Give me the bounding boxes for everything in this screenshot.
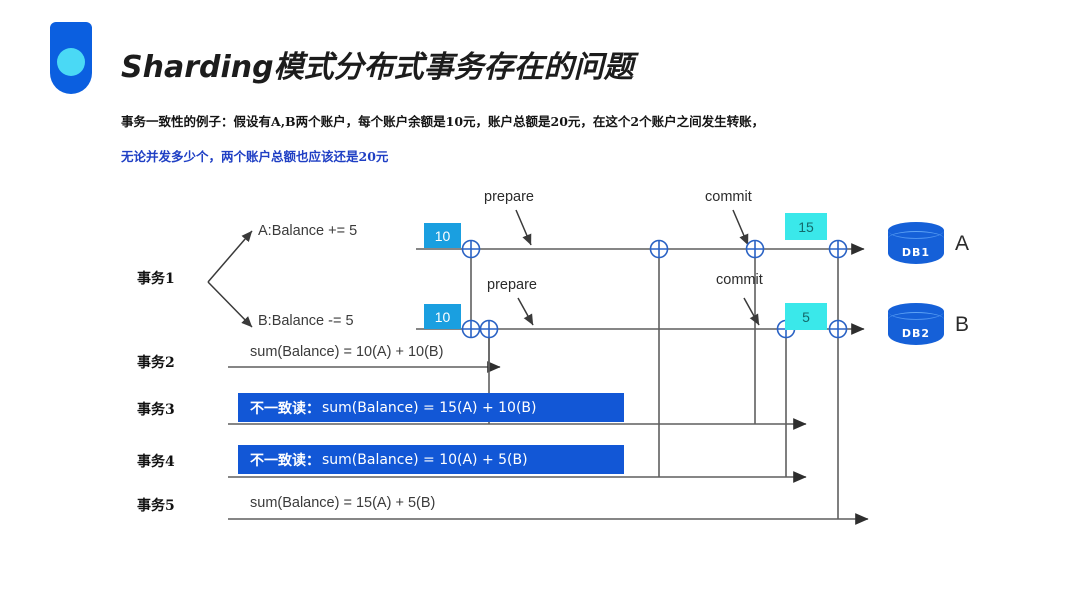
phase-label-commit-b: commit [716,272,763,288]
database-cylinder-icon-db1: DB1 [888,222,944,270]
balance-badge-a-after: 15 [785,213,827,240]
page-title: Sharding模式分布式事务存在的问题 [121,42,634,86]
db1-label: DB1 [888,246,944,259]
subtitle-line-2: 无论并发多少个，两个账户总额也应该还是20元 [121,146,388,165]
branch-operation-a: A:Balance += 5 [258,223,357,239]
inconsistent-read-bar-txn3: 不一致读： sum(Balance) = 15(A) + 10(B) [238,393,624,422]
brand-dot-icon [57,48,85,76]
balance-badge-a-before: 10 [424,223,461,248]
database-letter-a: A [955,232,969,256]
transaction-label-4: 事务4 [137,451,175,471]
inconsistent-read-prefix-txn4: 不一致读： [250,450,320,470]
db2-cap-line [888,312,944,327]
inconsistent-read-expression-txn4: sum(Balance) = 10(A) + 5(B) [322,452,528,468]
db2-label: DB2 [888,327,944,340]
database-letter-b: B [955,313,969,337]
read-expression-txn5: sum(Balance) = 15(A) + 5(B) [250,495,435,511]
transaction-label-1: 事务1 [137,268,175,288]
inconsistent-read-bar-txn4: 不一致读： sum(Balance) = 10(A) + 5(B) [238,445,624,474]
balance-badge-b-after: 5 [785,303,827,330]
balance-badge-b-before: 10 [424,304,461,329]
branch-operation-b: B:Balance -= 5 [258,313,354,329]
phase-label-commit-a: commit [705,189,752,205]
transaction-label-3: 事务3 [137,399,175,419]
subtitle-line-1: 事务一致性的例子：假设有A,B两个账户，每个账户余额是10元，账户总额是20元，… [121,111,764,130]
inconsistent-read-expression-txn3: sum(Balance) = 15(A) + 10(B) [322,400,536,416]
read-expression-txn2: sum(Balance) = 10(A) + 10(B) [250,344,443,360]
database-cylinder-icon-db2: DB2 [888,303,944,351]
phase-label-prepare-a: prepare [484,189,534,205]
phase-label-prepare-b: prepare [487,277,537,293]
db1-cap-line [888,231,944,246]
slide-canvas: Sharding模式分布式事务存在的问题 事务一致性的例子：假设有A,B两个账户… [0,0,1080,609]
inconsistent-read-prefix-txn3: 不一致读： [250,398,320,418]
transaction-label-2: 事务2 [137,352,175,372]
transaction-label-5: 事务5 [137,495,175,515]
